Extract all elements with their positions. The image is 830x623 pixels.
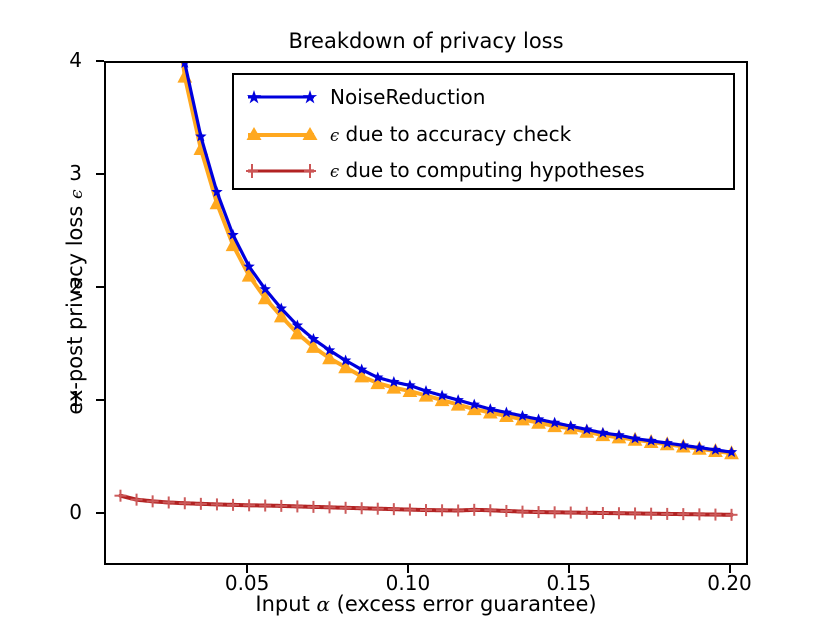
y-tick-mark (96, 512, 104, 514)
alpha-glyph: α (316, 592, 329, 616)
x-tick-mark (246, 565, 248, 573)
x-tick-label: 0.15 (509, 572, 629, 594)
y-axis-label-text: ex-post privacy loss (63, 199, 87, 415)
x-axis-label-prefix: Input (255, 592, 316, 616)
triangle-marker-icon (244, 123, 318, 147)
y-tick-mark (96, 399, 104, 401)
y-tick-label: 1 (22, 389, 82, 409)
chart-figure: Breakdown of privacy loss ex-post privac… (0, 0, 830, 623)
y-tick-label: 3 (22, 163, 82, 183)
x-tick-mark (568, 565, 570, 573)
star-marker-icon (244, 85, 318, 109)
x-tick-mark (729, 565, 731, 573)
legend-label-computing-hypotheses: ϵ due to computing hypotheses (330, 159, 645, 183)
legend-label-accuracy-check: ϵ due to accuracy check (330, 123, 571, 147)
legend-label-noisereduction: NoiseReduction (330, 86, 485, 108)
chart-title: Breakdown of privacy loss (104, 28, 748, 54)
y-tick-mark (96, 173, 104, 175)
y-tick-mark (96, 60, 104, 62)
chart-legend: NoiseReduction ϵ due to accuracy check (232, 73, 735, 190)
x-axis-label: Input α (excess error guarantee) (104, 592, 748, 616)
epsilon-glyph: ϵ (67, 189, 87, 199)
y-tick-mark (96, 286, 104, 288)
y-tick-label: 2 (22, 276, 82, 296)
legend-item-computing-hypotheses[interactable]: ϵ due to computing hypotheses (244, 153, 645, 189)
x-tick-label: 0.20 (670, 572, 790, 594)
legend-item-accuracy-check[interactable]: ϵ due to accuracy check (244, 117, 571, 153)
x-tick-label: 0.10 (348, 572, 468, 594)
x-tick-label: 0.05 (187, 572, 307, 594)
legend-item-noisereduction[interactable]: NoiseReduction (244, 79, 485, 115)
series-3 (114, 490, 737, 521)
x-axis-label-suffix: (excess error guarantee) (330, 592, 597, 616)
plus-marker-icon (244, 159, 318, 183)
y-tick-label: 0 (22, 502, 82, 522)
y-axis-label: ex-post privacy loss ϵ (63, 62, 87, 542)
x-tick-mark (407, 565, 409, 573)
y-tick-label: 4 (22, 50, 82, 70)
